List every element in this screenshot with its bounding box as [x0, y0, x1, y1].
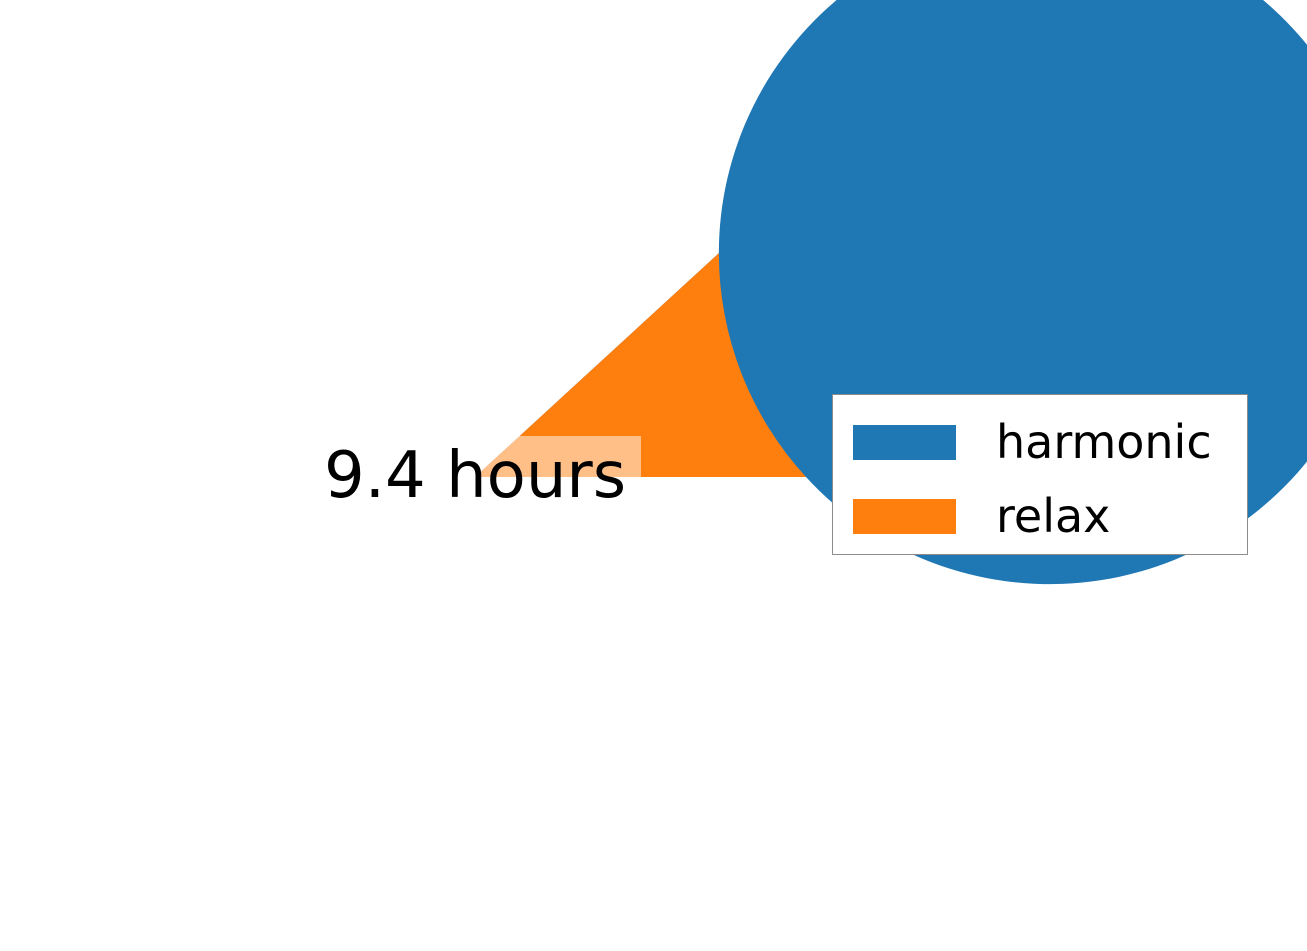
legend-swatch-harmonic: [853, 425, 956, 460]
legend: harmonic relax: [832, 394, 1248, 555]
legend-label-relax: relax: [996, 493, 1110, 539]
pie-chart-figure: 9.4 hours harmonic relax: [0, 0, 1307, 951]
legend-label-harmonic: harmonic: [996, 419, 1212, 465]
legend-entry-relax[interactable]: relax: [853, 493, 1110, 539]
pie-slice-label-harmonic: 9.4 hours: [309, 436, 641, 515]
legend-entry-harmonic[interactable]: harmonic: [853, 419, 1212, 465]
legend-swatch-relax: [853, 499, 956, 534]
